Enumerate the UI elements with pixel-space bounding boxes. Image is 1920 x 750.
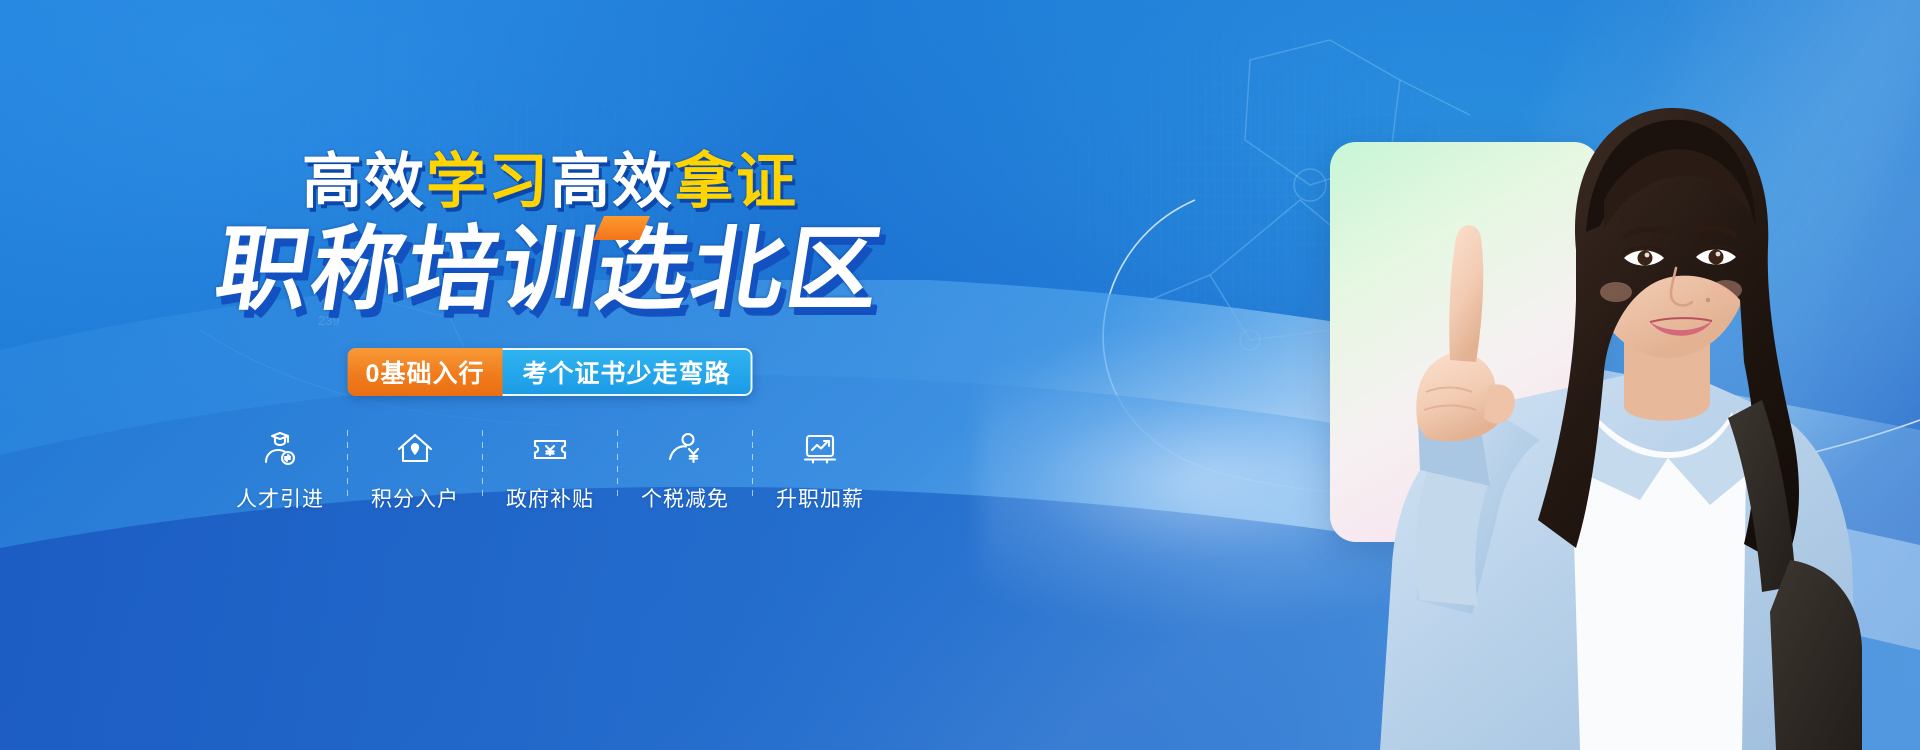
headline-seg-4: 拿证 [674,152,798,212]
feature-list: 人才引进 积分入户 [213,428,887,513]
banner-content: 高效学习高效拿证 职称培训选北区 0基础入行 考个证书少走弯路 [0,0,1100,750]
headline-seg-1: 高效 [302,152,426,212]
house-pin-icon [395,428,435,470]
headline-seg-3: 高效 [550,152,674,212]
graduate-person-icon [260,428,300,470]
person-yuan-icon [665,428,705,470]
ticket-yuan-icon [530,428,570,470]
promo-banner: 239 [0,0,1920,750]
feature-label: 个税减免 [641,483,729,513]
feature-item-tax[interactable]: 个税减免 [618,428,752,513]
badge-left-label: 0基础入行 [348,348,503,396]
headline-primary: 职称培训选北区 [210,222,890,319]
feature-divider [347,430,348,502]
feature-divider [482,430,483,502]
feature-divider [617,430,618,502]
feature-label: 升职加薪 [776,483,864,513]
headline-primary-wrap: 职称培训选北区 [0,222,1100,319]
growth-chart-icon [800,428,840,470]
feature-item-residency[interactable]: 积分入户 [348,428,482,513]
feature-item-promotion[interactable]: 升职加薪 [753,428,887,513]
headline-secondary: 高效学习高效拿证 [0,152,1100,212]
feature-label: 人才引进 [236,483,324,513]
tagline-badge[interactable]: 0基础入行 考个证书少走弯路 [348,348,753,396]
model-illustration [1020,0,1920,750]
headline-seg-2: 学习 [426,152,550,212]
headline-primary-text: 职称培训选北区 [209,219,890,321]
feature-label: 政府补贴 [506,483,594,513]
feature-item-subsidy[interactable]: 政府补贴 [483,428,617,513]
feature-label: 积分入户 [371,483,459,513]
feature-item-talent[interactable]: 人才引进 [213,428,347,513]
feature-divider [752,430,753,502]
model-photo-zone [1020,0,1920,750]
badge-right-label: 考个证书少走弯路 [502,348,752,396]
